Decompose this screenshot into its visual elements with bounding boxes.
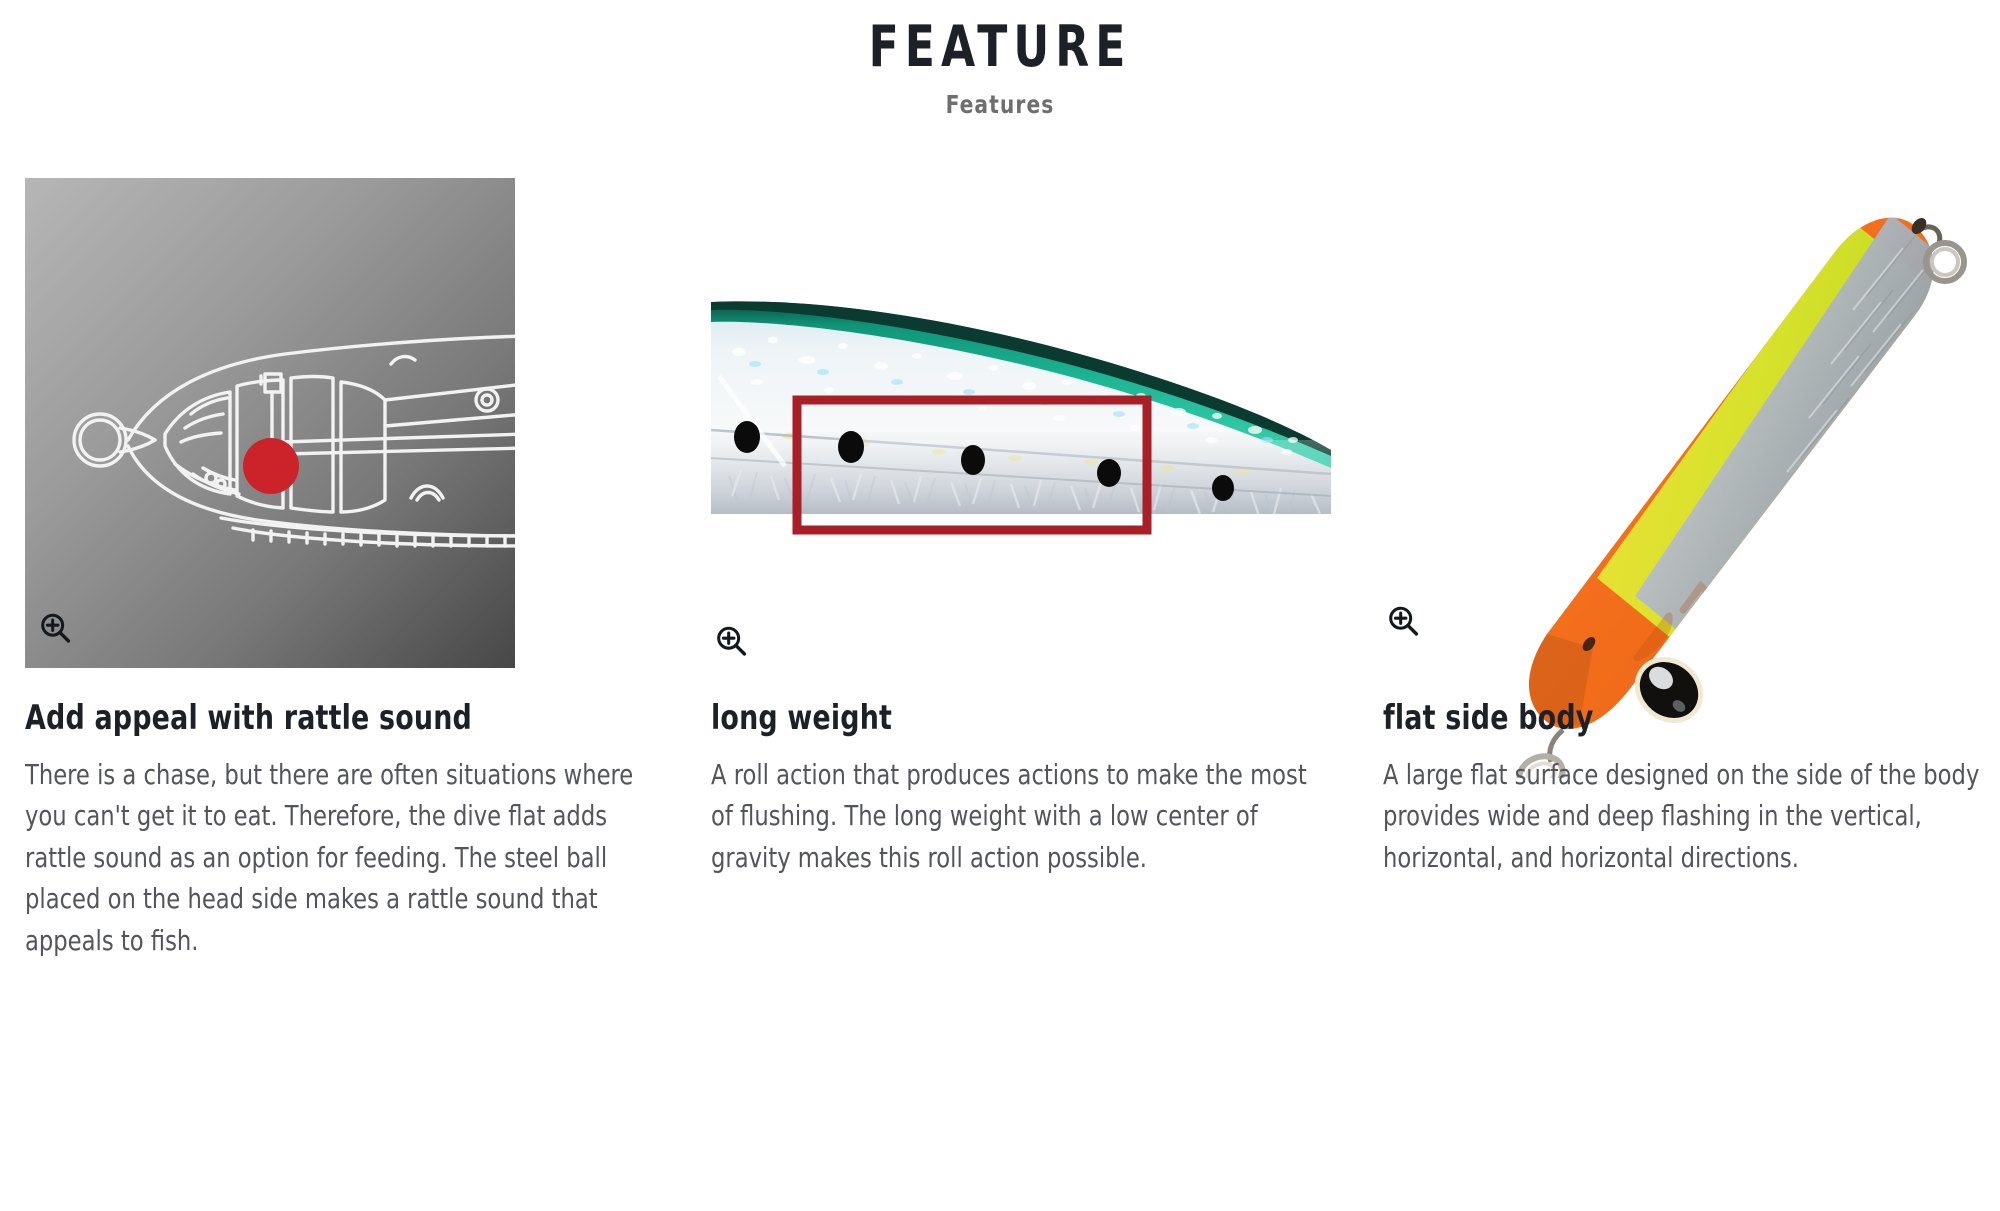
feature-caption-flat-side-body: flat side body A large flat surface desi… (1383, 698, 2000, 878)
feature-page: FEATURE Features (0, 0, 2000, 1211)
feature-title: Add appeal with rattle sound (25, 698, 583, 738)
features-grid: Add appeal with rattle sound There is a … (25, 178, 2000, 798)
page-title: FEATURE (140, 18, 1860, 78)
feature-title: flat side body (1383, 698, 1929, 738)
rattle-ball-indicator (243, 438, 299, 494)
zoom-in-icon-rattle-sound[interactable] (37, 610, 75, 648)
page-header: FEATURE Features (0, 0, 2000, 119)
feature-card-flat-side-body: flat side body A large flat surface desi… (1383, 178, 2000, 798)
cutaway-diagram-svg (25, 178, 515, 668)
feature-title: long weight (711, 698, 1257, 738)
zoom-in-icon (713, 623, 751, 661)
holographic-body-svg (711, 290, 1331, 560)
orange-lure-svg (1383, 178, 2000, 778)
zoom-in-icon-flat-side-body[interactable] (1385, 603, 1423, 641)
feature-body: There is a chase, but there are often si… (25, 754, 658, 961)
feature-body: A roll action that produces actions to m… (711, 754, 1330, 878)
zoom-in-icon (1385, 603, 1423, 641)
feature-card-long-weight: long weight A roll action that produces … (711, 178, 1331, 798)
feature-card-rattle-sound: Add appeal with rattle sound There is a … (25, 178, 659, 798)
feature-caption-rattle-sound: Add appeal with rattle sound There is a … (25, 698, 659, 961)
zoom-in-icon (37, 610, 75, 648)
holographic-body-closeup (711, 290, 1331, 560)
feature-caption-long-weight: long weight A roll action that produces … (711, 698, 1331, 878)
feature-body: A large flat surface designed on the sid… (1383, 754, 2000, 878)
technical-cutaway-illustration (25, 178, 515, 668)
page-subtitle: Features (100, 90, 1900, 119)
zoom-in-icon-long-weight[interactable] (713, 623, 751, 661)
orange-lure-photo (1383, 178, 2000, 778)
